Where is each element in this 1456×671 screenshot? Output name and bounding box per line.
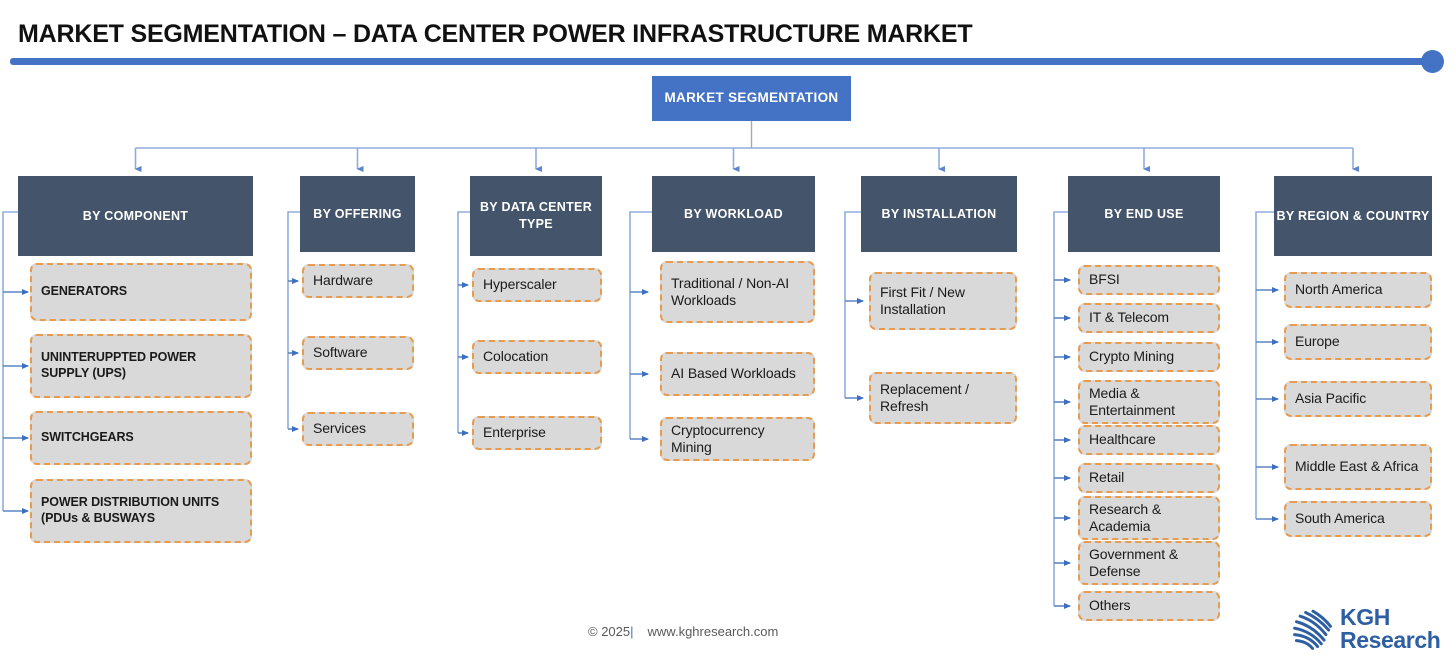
segment-item[interactable]: Hardware [302,264,414,298]
segment-item-label: POWER DISTRIBUTION UNITS (PDUs & BUSWAYS [41,495,242,526]
diagram-canvas: MARKET SEGMENTATION – DATA CENTER POWER … [0,0,1456,671]
segment-item-label: Retail [1089,469,1124,487]
column-header-6[interactable]: BY END USE [1068,176,1220,252]
segment-item[interactable]: Cryptocurrency Mining [660,417,815,461]
segment-item[interactable]: Research & Academia [1078,496,1220,540]
segment-item[interactable]: SWITCHGEARS [30,411,252,465]
copyright-notice: © 2025|www.kghresearch.com [588,624,778,639]
segment-item[interactable]: IT & Telecom [1078,303,1220,333]
segment-item[interactable]: Europe [1284,324,1432,360]
column-header-label: BY END USE [1104,206,1183,223]
segment-item[interactable]: Services [302,412,414,446]
segment-item[interactable]: POWER DISTRIBUTION UNITS (PDUs & BUSWAYS [30,479,252,543]
segment-item-label: Healthcare [1089,431,1156,449]
segment-item-label: Software [313,344,367,362]
segment-item-label: Research & Academia [1089,501,1210,536]
segment-item[interactable]: AI Based Workloads [660,352,815,396]
segment-item-label: GENERATORS [41,284,127,300]
segment-item-label: Services [313,420,366,438]
segment-item[interactable]: Healthcare [1078,425,1220,455]
globe-icon [1290,607,1336,653]
segment-item-label: First Fit / New Installation [880,284,1007,319]
segment-item-label: AI Based Workloads [671,365,796,383]
column-header-label: BY INSTALLATION [882,206,997,223]
segment-item-label: Government & Defense [1089,546,1210,581]
segment-item[interactable]: Crypto Mining [1078,342,1220,372]
segment-item-label: Enterprise [483,424,546,442]
column-header-label: BY WORKLOAD [684,206,783,223]
segment-item-label: Replacement / Refresh [880,381,1007,416]
segment-item-label: Others [1089,597,1130,615]
segment-item[interactable]: Colocation [472,340,602,374]
segment-item[interactable]: Government & Defense [1078,541,1220,585]
text-cursor-glyph: | [630,624,633,639]
logo-line-2: Research [1340,629,1440,652]
segment-item[interactable]: First Fit / New Installation [869,272,1017,330]
column-header-4[interactable]: BY WORKLOAD [652,176,815,252]
segment-item[interactable]: Hyperscaler [472,268,602,302]
logo-wordmark: KGH Research [1340,606,1440,653]
column-header-5[interactable]: BY INSTALLATION [861,176,1017,252]
column-header-label: BY DATA CENTER TYPE [470,199,602,233]
segment-item-label: BFSI [1089,271,1120,289]
segment-item[interactable]: Software [302,336,414,370]
kgh-research-logo: KGH Research [1290,604,1450,658]
column-header-label: BY REGION & COUNTRY [1277,208,1430,225]
column-header-7[interactable]: BY REGION & COUNTRY [1274,176,1432,256]
column-header-1[interactable]: BY COMPONENT [18,176,253,256]
segment-item[interactable]: Asia Pacific [1284,381,1432,417]
segment-item[interactable]: Media & Entertainment [1078,380,1220,424]
column-header-label: BY OFFERING [313,206,402,223]
segment-item-label: UNINTERUPPTED POWER SUPPLY (UPS) [41,350,242,381]
segment-item[interactable]: UNINTERUPPTED POWER SUPPLY (UPS) [30,334,252,398]
segment-item-label: Europe [1295,333,1340,351]
segment-item[interactable]: Retail [1078,463,1220,493]
copyright-year: © 2025 [588,624,630,639]
segment-item[interactable]: Others [1078,591,1220,621]
column-header-3[interactable]: BY DATA CENTER TYPE [470,176,602,256]
segment-item[interactable]: BFSI [1078,265,1220,295]
segment-item[interactable]: Middle East & Africa [1284,444,1432,490]
segment-item-label: Hardware [313,272,373,290]
column-header-2[interactable]: BY OFFERING [300,176,415,252]
segment-item-label: IT & Telecom [1089,309,1169,327]
segment-item-label: Middle East & Africa [1295,458,1418,476]
segment-item[interactable]: Replacement / Refresh [869,372,1017,424]
segment-item-label: North America [1295,281,1382,299]
segment-item-label: South America [1295,510,1385,528]
segment-item-label: SWITCHGEARS [41,430,134,446]
segment-item[interactable]: Traditional / Non-AI Workloads [660,261,815,323]
segment-item[interactable]: North America [1284,272,1432,308]
segment-item-label: Colocation [483,348,548,366]
segment-item-label: Traditional / Non-AI Workloads [671,275,805,310]
segment-item-label: Crypto Mining [1089,348,1174,366]
segment-item-label: Asia Pacific [1295,390,1366,408]
segment-item[interactable]: Enterprise [472,416,602,450]
website-url: www.kghresearch.com [648,624,779,639]
logo-line-1: KGH [1340,606,1440,629]
segment-item-label: Media & Entertainment [1089,385,1210,420]
column-header-label: BY COMPONENT [83,208,188,225]
segment-item[interactable]: GENERATORS [30,263,252,321]
segment-item-label: Hyperscaler [483,276,557,294]
segment-item-label: Cryptocurrency Mining [671,422,805,457]
segment-item[interactable]: South America [1284,501,1432,537]
